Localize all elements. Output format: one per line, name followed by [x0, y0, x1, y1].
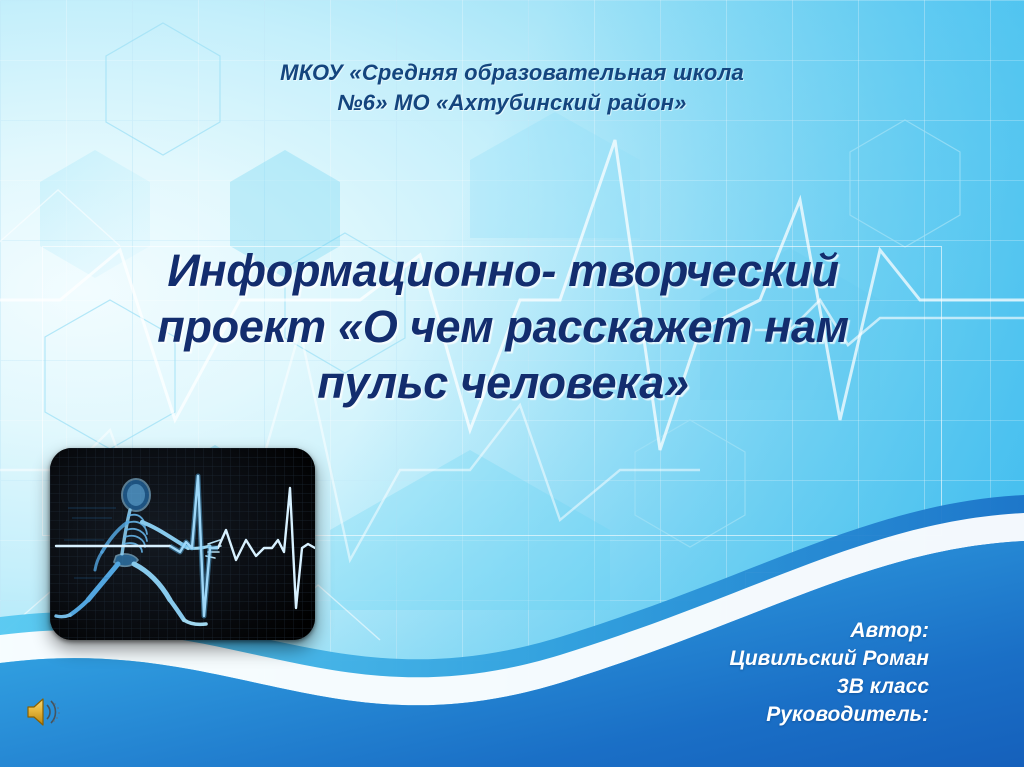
school-name-header: МКОУ «Средняя образовательная школа №6» …	[0, 58, 1024, 118]
page-title: Информационно- творческий проект «О чем …	[58, 243, 948, 411]
title-line-3: пульс человека»	[58, 355, 948, 411]
author-block: Автор: Цивильский Роман 3В класс Руковод…	[730, 617, 929, 729]
xray-runner-ecg-thumbnail[interactable]	[50, 448, 315, 640]
author-line-4: Руководитель:	[730, 701, 929, 729]
author-line-3: 3В класс	[730, 673, 929, 701]
title-line-2: проект «О чем расскажет нам	[58, 299, 948, 355]
title-line-1: Информационно- творческий	[58, 243, 948, 299]
school-name-line-1: МКОУ «Средняя образовательная школа	[0, 58, 1024, 88]
presentation-slide: МКОУ «Средняя образовательная школа №6» …	[0, 0, 1024, 767]
speaker-icon[interactable]	[24, 694, 68, 730]
author-line-2: Цивильский Роман	[730, 645, 929, 673]
school-name-line-2: №6» МО «Ахтубинский район»	[0, 88, 1024, 118]
author-line-1: Автор:	[730, 617, 929, 645]
